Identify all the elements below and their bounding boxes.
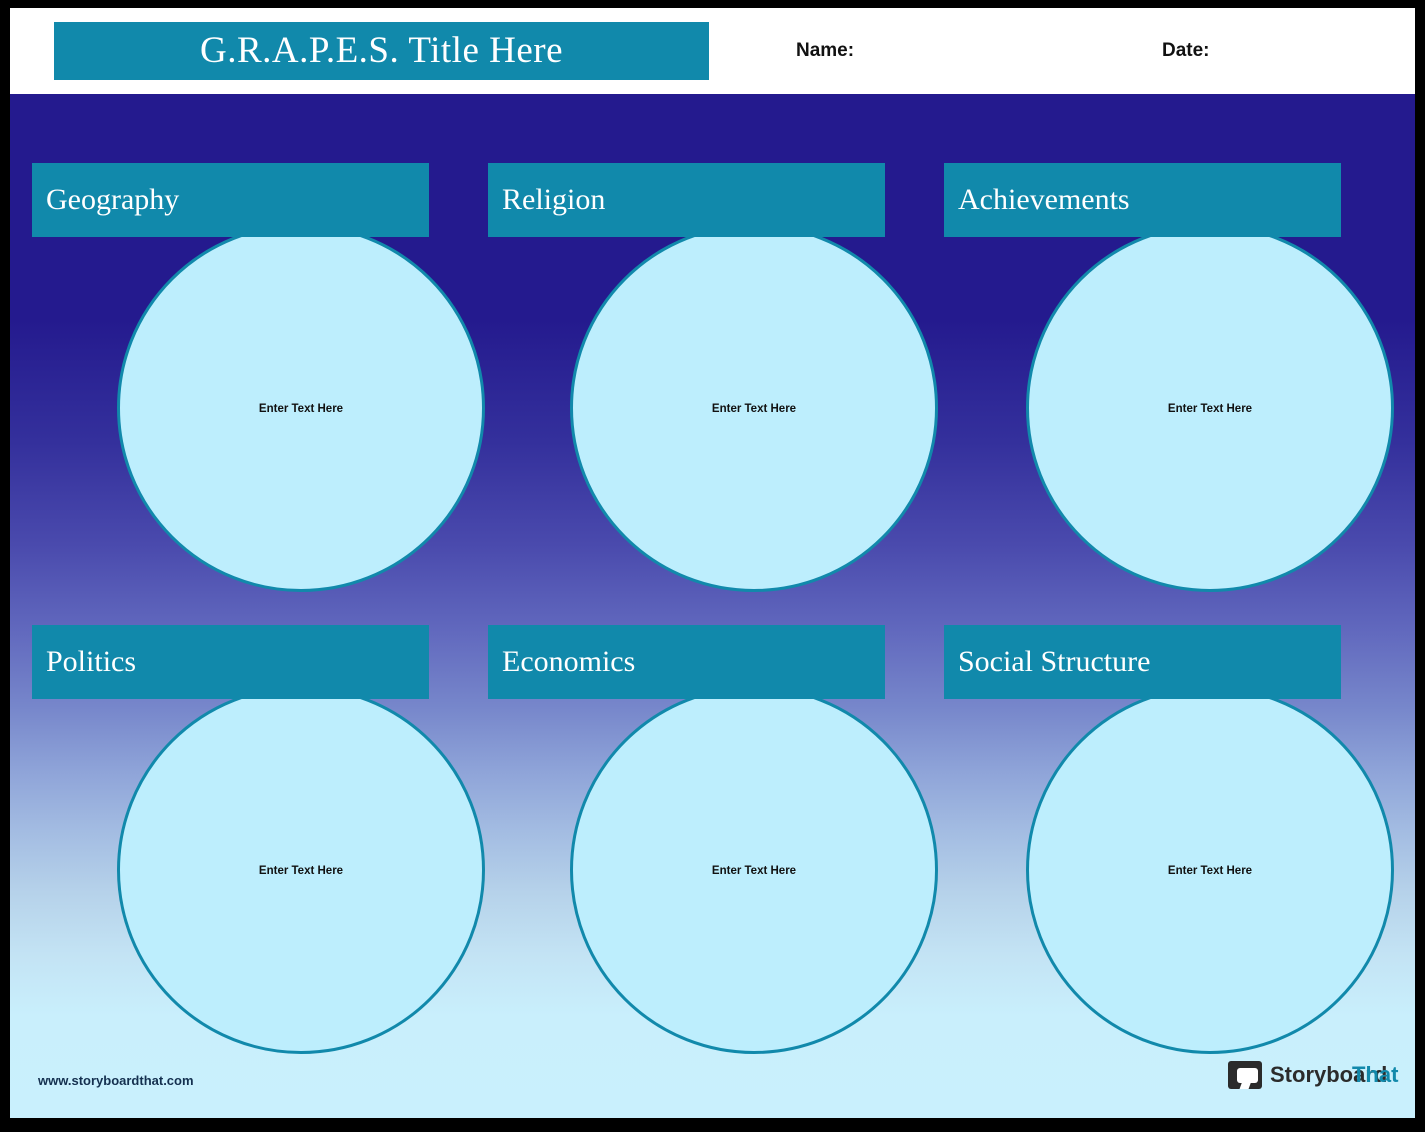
panel-title-politics: Politics [32,625,429,699]
panel-economics: Economics Enter Text Here [488,625,888,1025]
placeholder-text-religion: Enter Text Here [573,403,935,415]
placeholder-text-social-structure: Enter Text Here [1029,865,1391,877]
text-circle-religion[interactable]: Enter Text Here [570,224,938,592]
panel-achievements: Achievements Enter Text Here [944,163,1344,563]
name-field-label[interactable]: Name: [796,40,854,62]
placeholder-text-geography: Enter Text Here [120,403,482,415]
text-circle-geography[interactable]: Enter Text Here [117,224,485,592]
worksheet: G.R.A.P.E.S. Title Here Name: Date: Geog… [10,8,1415,1118]
panel-title-economics: Economics [488,625,885,699]
panel-geography: Geography Enter Text Here [32,163,432,563]
text-circle-achievements[interactable]: Enter Text Here [1026,224,1394,592]
text-circle-politics[interactable]: Enter Text Here [117,686,485,1054]
panel-social-structure: Social Structure Enter Text Here [944,625,1344,1025]
text-circle-economics[interactable]: Enter Text Here [570,686,938,1054]
panel-header-geography[interactable]: Geography [32,163,429,237]
panel-title-religion: Religion [488,163,885,237]
placeholder-text-politics: Enter Text Here [120,865,482,877]
text-circle-social-structure[interactable]: Enter Text Here [1026,686,1394,1054]
panel-header-politics[interactable]: Politics [32,625,429,699]
panel-title-achievements: Achievements [944,163,1341,237]
storyboardthat-logo[interactable]: Storyboard That [1228,1058,1393,1092]
worksheet-canvas: Geography Enter Text Here Religion Enter… [10,94,1415,1118]
date-field-label[interactable]: Date: [1162,40,1210,62]
site-url[interactable]: www.storyboardthat.com [38,1073,194,1088]
panel-header-religion[interactable]: Religion [488,163,885,237]
panel-title-geography: Geography [32,163,429,237]
worksheet-header: G.R.A.P.E.S. Title Here Name: Date: [10,8,1415,94]
panel-header-achievements[interactable]: Achievements [944,163,1341,237]
panel-religion: Religion Enter Text Here [488,163,888,563]
speech-bubble-icon [1228,1061,1262,1089]
page-title: G.R.A.P.E.S. Title Here [54,22,709,80]
title-banner[interactable]: G.R.A.P.E.S. Title Here [54,22,709,80]
panel-header-social-structure[interactable]: Social Structure [944,625,1341,699]
panel-politics: Politics Enter Text Here [32,625,432,1025]
panel-header-economics[interactable]: Economics [488,625,885,699]
panel-title-social-structure: Social Structure [944,625,1341,699]
placeholder-text-achievements: Enter Text Here [1029,403,1391,415]
logo-word-that: That [1352,1062,1398,1088]
placeholder-text-economics: Enter Text Here [573,865,935,877]
